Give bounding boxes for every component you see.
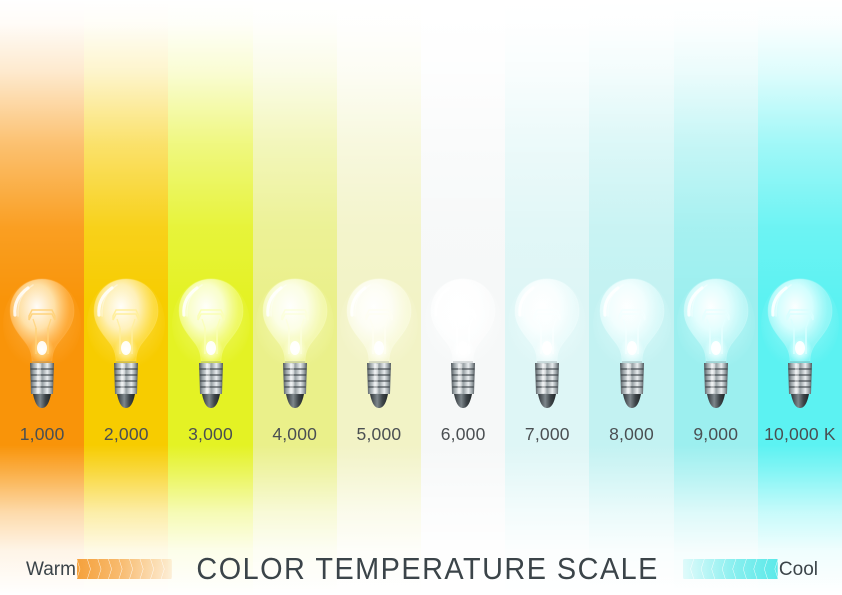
kelvin-label: 6,000 <box>421 424 505 450</box>
kelvin-label: 10,000 K <box>758 424 842 450</box>
light-bulb <box>84 276 168 426</box>
kelvin-label: 4,000 <box>253 424 337 450</box>
scale-legend-bar: Warm COLOR TEMPERATURE SCALE Cool <box>0 548 842 590</box>
light-bulb-graphic <box>592 276 672 422</box>
cool-arrow-icon <box>683 556 778 582</box>
light-bulb-graphic <box>86 276 166 422</box>
kelvin-label-row: 1,0002,0003,0004,0005,0006,0007,0008,000… <box>0 424 842 450</box>
light-bulb-graphic <box>339 276 419 422</box>
light-bulb-graphic <box>423 276 503 422</box>
cool-label: Cool <box>778 560 842 579</box>
warm-arrow-icon <box>77 556 172 582</box>
light-bulb <box>168 276 252 426</box>
kelvin-label: 9,000 <box>674 424 758 450</box>
light-bulb-graphic <box>255 276 335 422</box>
page-title: COLOR TEMPERATURE SCALE <box>190 551 666 587</box>
warm-label: Warm <box>0 560 77 579</box>
light-bulb <box>0 276 84 426</box>
kelvin-label: 8,000 <box>589 424 673 450</box>
light-bulb-graphic <box>171 276 251 422</box>
light-bulb <box>674 276 758 426</box>
light-bulb-row <box>0 276 842 426</box>
light-bulb-graphic <box>760 276 840 422</box>
kelvin-label: 2,000 <box>84 424 168 450</box>
kelvin-label: 5,000 <box>337 424 421 450</box>
light-bulb <box>421 276 505 426</box>
light-bulb <box>253 276 337 426</box>
light-bulb-graphic <box>507 276 587 422</box>
light-bulb <box>505 276 589 426</box>
light-bulb <box>758 276 842 426</box>
kelvin-label: 7,000 <box>505 424 589 450</box>
kelvin-label: 1,000 <box>0 424 84 450</box>
light-bulb-graphic <box>676 276 756 422</box>
kelvin-label: 3,000 <box>168 424 252 450</box>
light-bulb-graphic <box>2 276 82 422</box>
light-bulb <box>589 276 673 426</box>
light-bulb <box>337 276 421 426</box>
color-temperature-infographic: 1,0002,0003,0004,0005,0006,0007,0008,000… <box>0 0 842 595</box>
